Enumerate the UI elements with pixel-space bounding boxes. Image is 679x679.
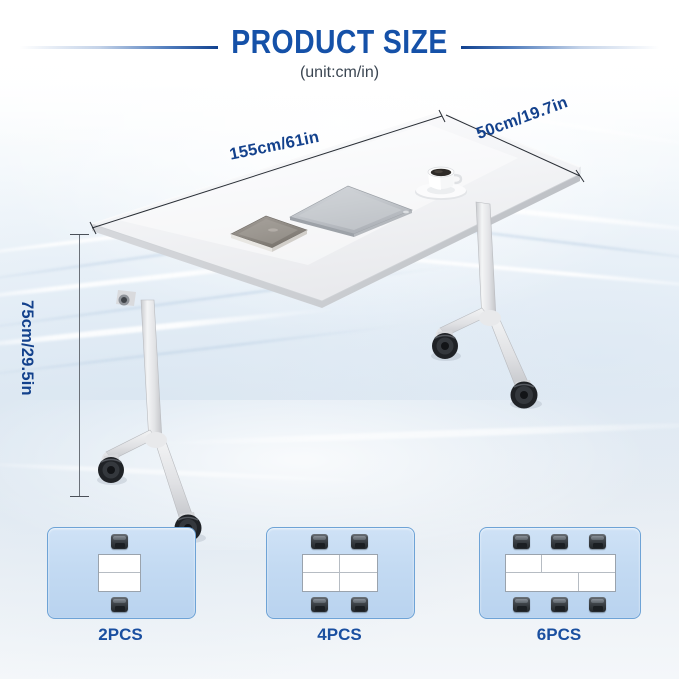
config-card-2pcs[interactable] <box>47 527 196 619</box>
table-cell <box>579 555 615 573</box>
table-cell <box>542 555 578 573</box>
chair-icon <box>111 597 128 612</box>
chair-icon <box>311 597 328 612</box>
configuration-cards: 2PCS 4PCS <box>0 527 679 667</box>
table-cell <box>340 555 377 573</box>
chair-icon <box>551 597 568 612</box>
config-card-6pcs[interactable] <box>479 527 641 619</box>
product-size-infographic: PRODUCT SIZE (unit:cm/in) <box>0 0 679 679</box>
chair-icon <box>551 534 568 549</box>
chair-icon <box>589 597 606 612</box>
chair-icon <box>513 597 530 612</box>
table-cell <box>506 573 542 591</box>
table-cell <box>303 573 340 591</box>
table-cell <box>579 573 615 591</box>
table-cell <box>303 555 340 573</box>
table-cell <box>340 573 377 591</box>
chair-icon <box>351 534 368 549</box>
config-label-2pcs: 2PCS <box>47 625 194 645</box>
table-cell <box>542 573 578 591</box>
table-plan-4pcs <box>302 554 378 592</box>
table-plan-2pcs <box>98 554 141 592</box>
table-cell <box>506 555 542 573</box>
config-card-4pcs[interactable] <box>266 527 415 619</box>
chair-icon <box>351 597 368 612</box>
chair-icon <box>513 534 530 549</box>
table-cell <box>99 573 140 591</box>
chair-icon <box>111 534 128 549</box>
config-label-4pcs: 4PCS <box>266 625 413 645</box>
config-label-6pcs: 6PCS <box>479 625 639 645</box>
table-plan-6pcs <box>505 554 616 592</box>
chair-icon <box>311 534 328 549</box>
chair-icon <box>589 534 606 549</box>
table-cell <box>99 555 140 573</box>
